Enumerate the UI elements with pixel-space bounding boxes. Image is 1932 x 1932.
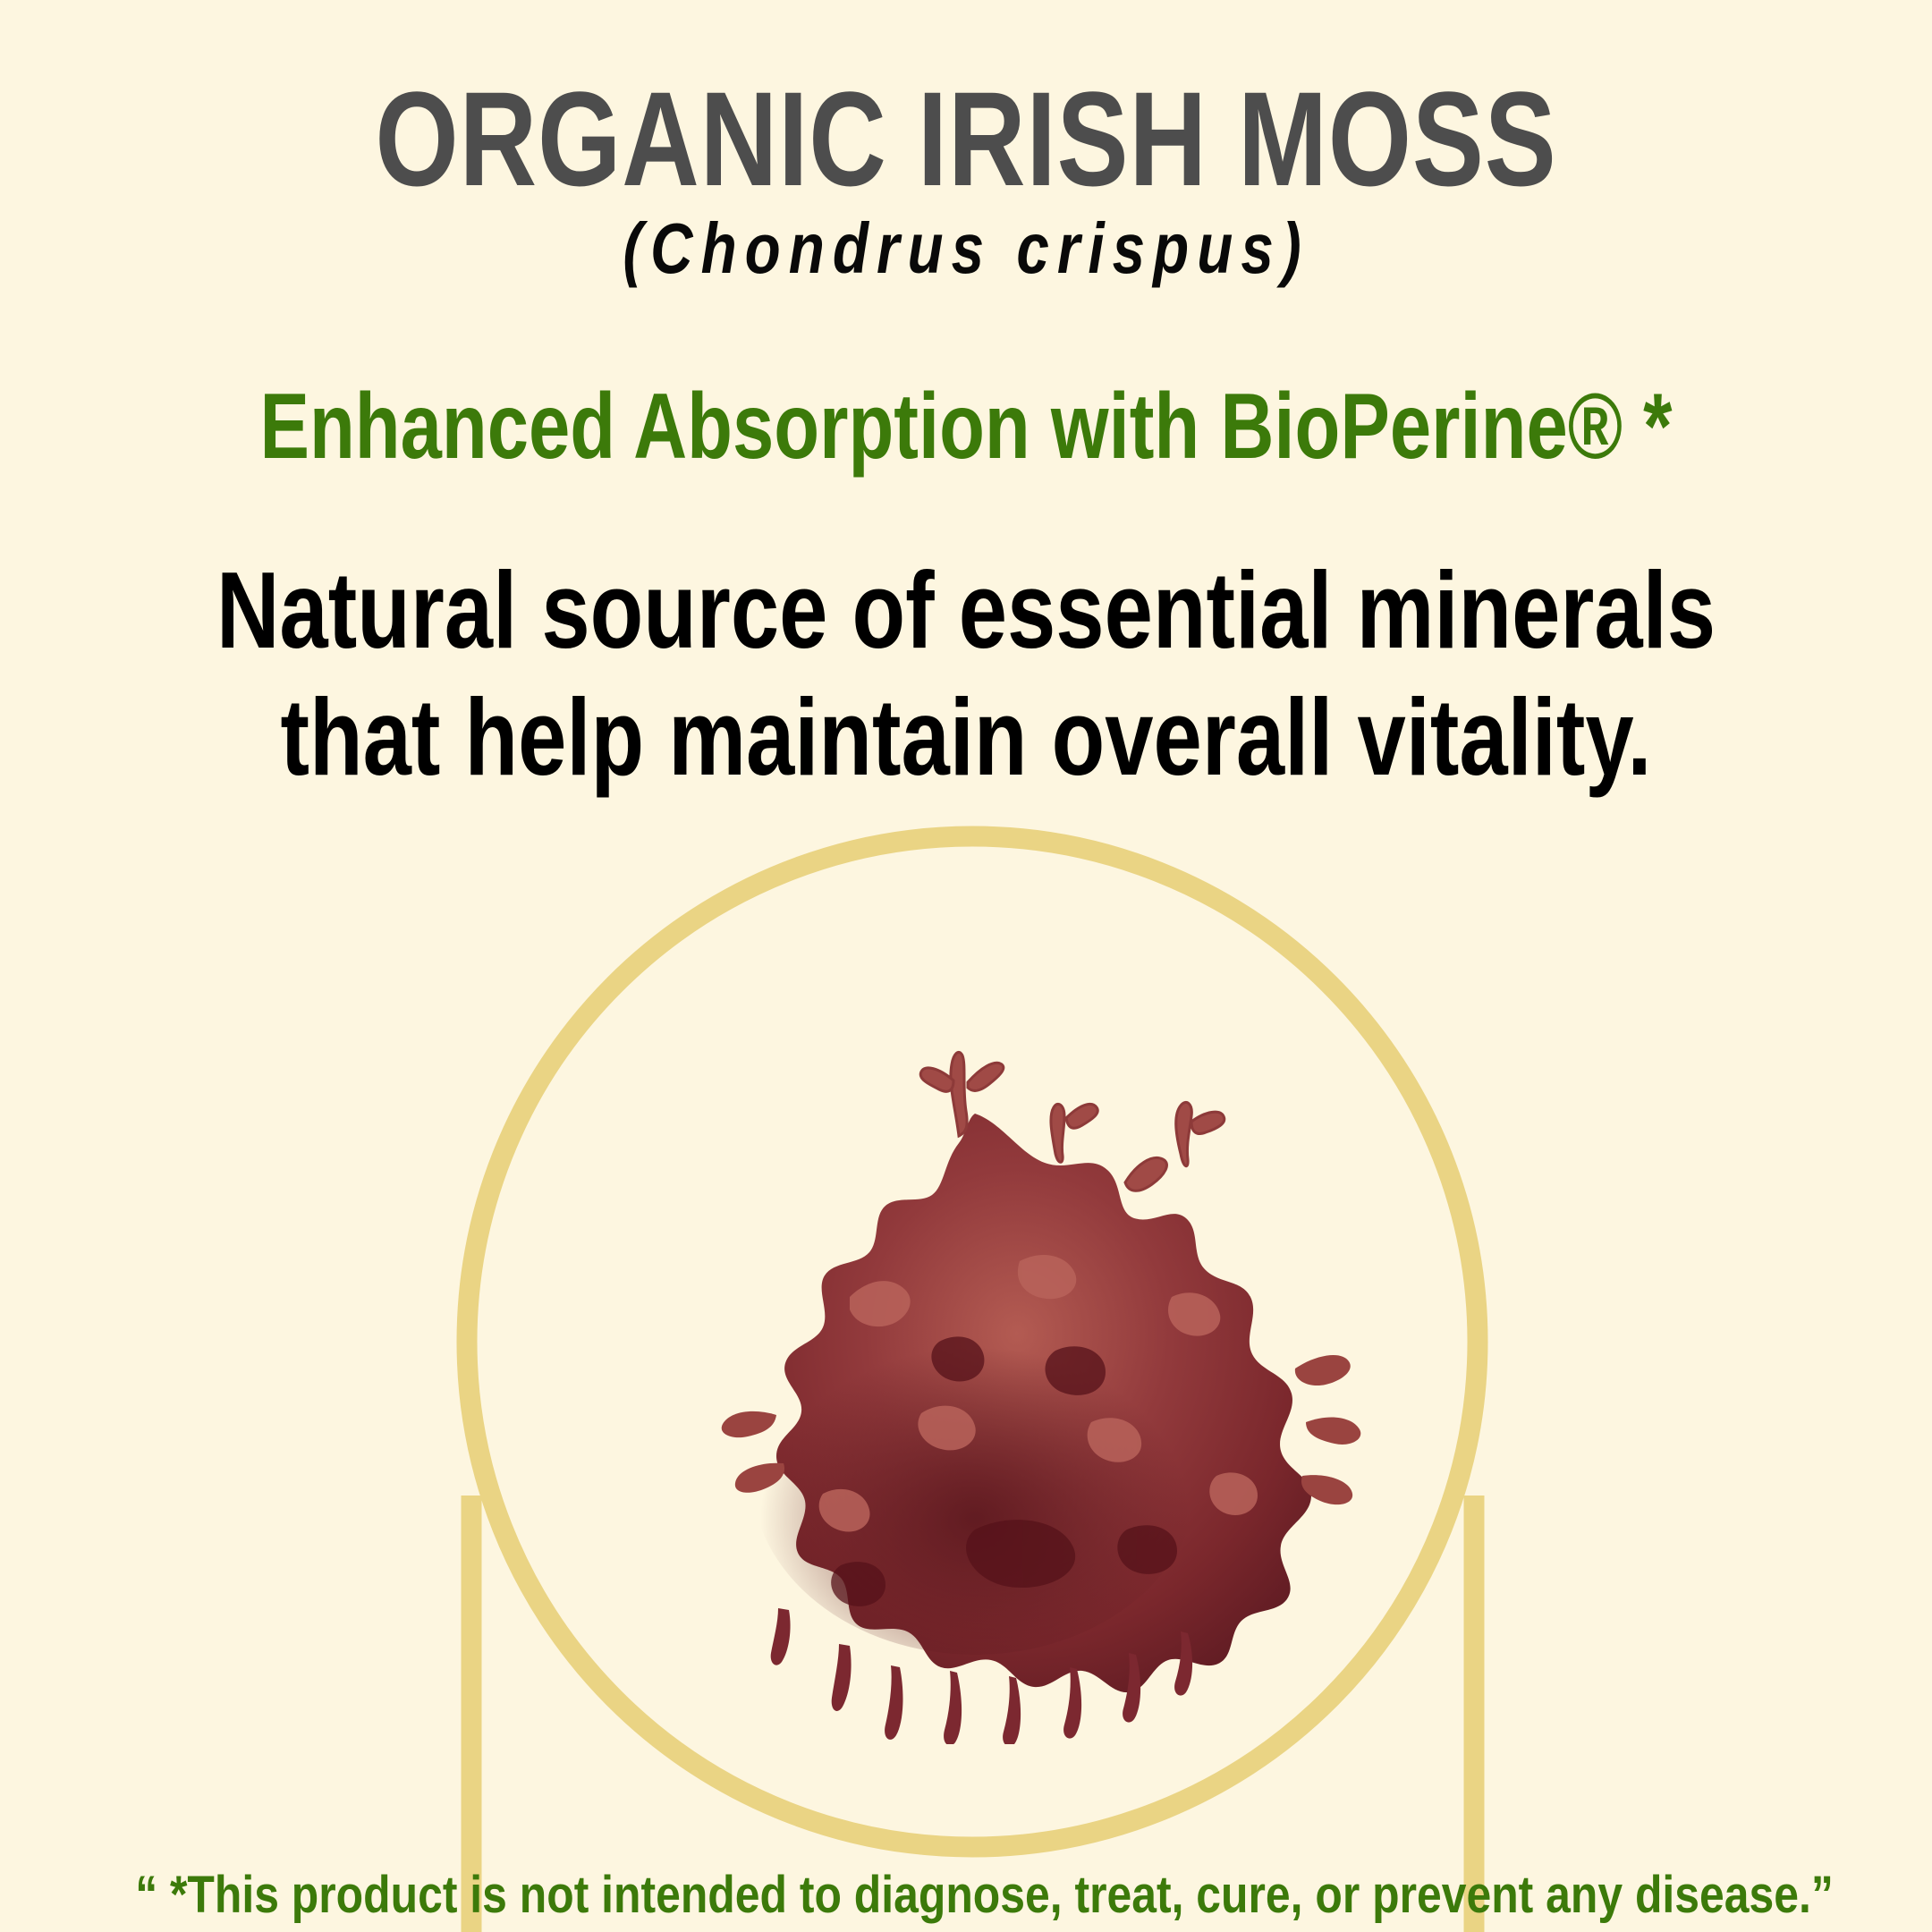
- latin-name: (Chondrus crispus): [174, 213, 1758, 284]
- header-block: ORGANIC IRISH MOSS (Chondrus crispus): [0, 72, 1932, 284]
- irish-moss-illustration: [555, 1029, 1395, 1744]
- bioperine-highlight: Enhanced Absorption with BioPerine® *: [193, 380, 1739, 473]
- claim-line-1: Natural source of essential minerals: [193, 547, 1739, 674]
- irish-moss-image: [555, 1029, 1395, 1744]
- moss-main-mass: [751, 1114, 1311, 1692]
- claim-line-2: that help maintain overall vitality.: [193, 674, 1739, 801]
- page-title: ORGANIC IRISH MOSS: [193, 72, 1739, 206]
- product-claim: Natural source of essential minerals tha…: [193, 547, 1739, 801]
- disclaimer-text: “ *This product is not intended to diagn…: [135, 1869, 1797, 1921]
- product-poster: ORGANIC IRISH MOSS (Chondrus crispus) En…: [0, 0, 1932, 1932]
